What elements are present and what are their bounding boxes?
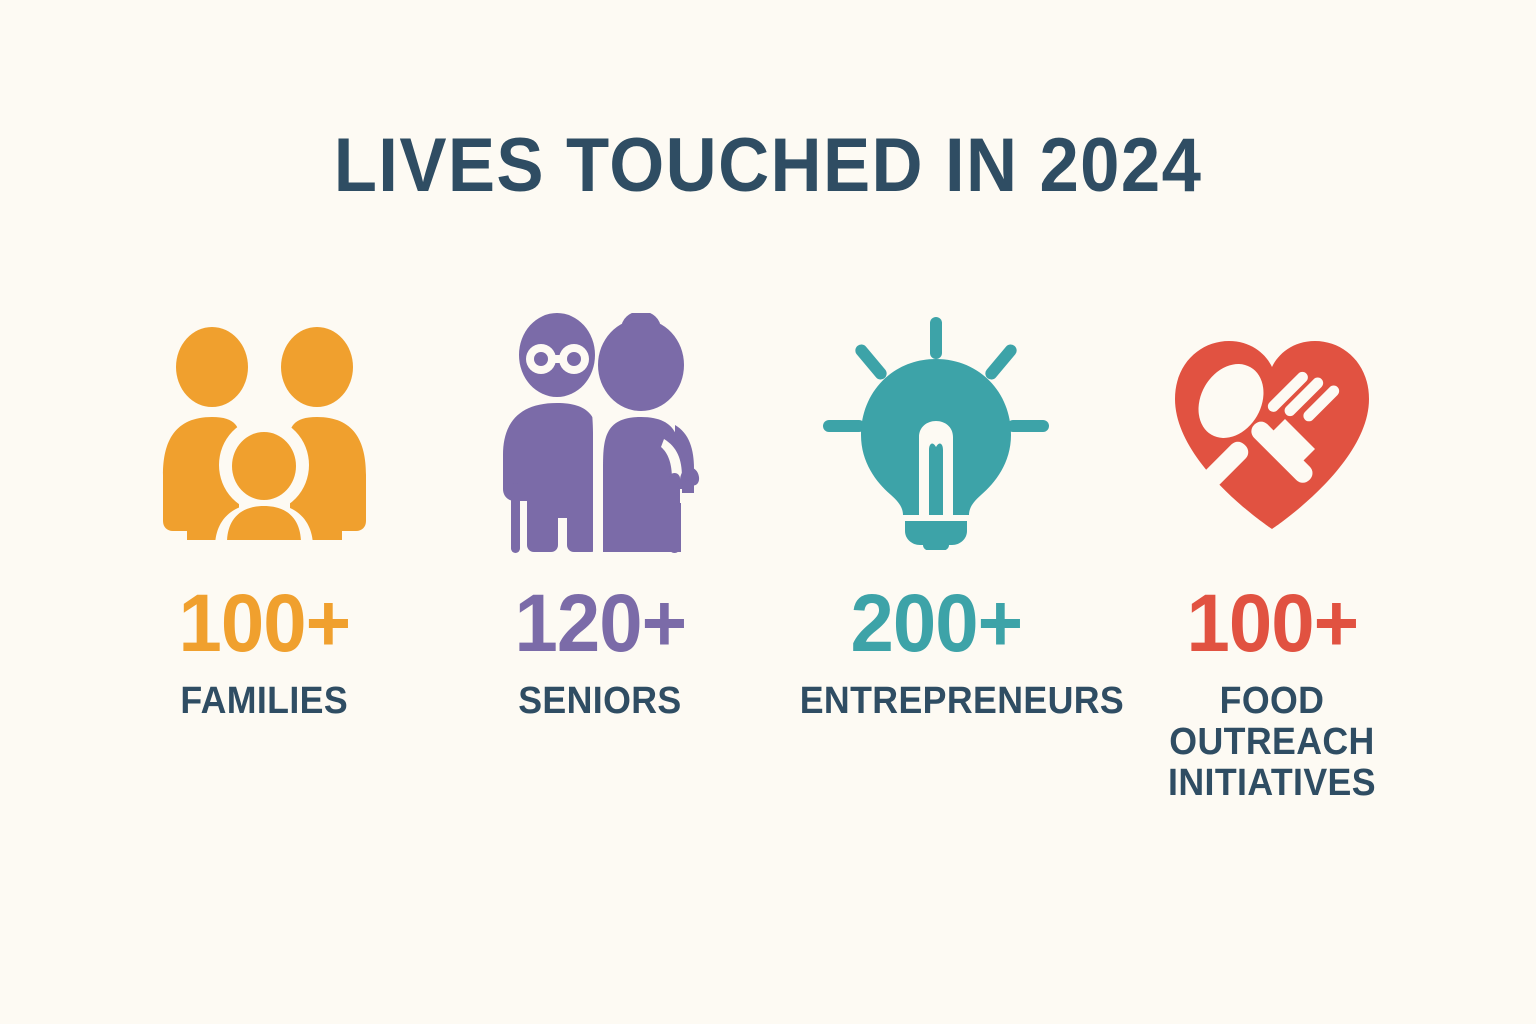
stat-card-families: 100+ FAMILIES — [96, 300, 432, 722]
seniors-icon — [485, 300, 715, 565]
stat-value-entrepreneurs: 200+ — [850, 583, 1022, 665]
stat-label-families: FAMILIES — [180, 681, 348, 722]
lightbulb-icon — [821, 300, 1051, 565]
stat-label-seniors: SENIORS — [518, 681, 681, 722]
stat-card-seniors: 120+ SENIORS — [432, 300, 768, 722]
stats-row: 100+ FAMILIES — [96, 300, 1440, 804]
stat-card-food-outreach: 100+ FOOD OUTREACH INITIATIVES — [1104, 300, 1440, 804]
stat-label-food-outreach: FOOD OUTREACH INITIATIVES — [1155, 681, 1390, 804]
stat-card-entrepreneurs: 200+ ENTREPRENEURS — [768, 300, 1104, 722]
stat-value-food-outreach: 100+ — [1186, 583, 1358, 665]
heart-food-icon — [1157, 300, 1387, 565]
family-icon — [149, 300, 379, 565]
stat-label-entrepreneurs: ENTREPRENEURS — [800, 681, 1073, 722]
stat-value-seniors: 120+ — [514, 583, 686, 665]
page-title: LIVES TOUCHED IN 2024 — [54, 128, 1482, 204]
stat-value-families: 100+ — [178, 583, 350, 665]
infographic-canvas: LIVES TOUCHED IN 2024 — [0, 0, 1536, 1024]
